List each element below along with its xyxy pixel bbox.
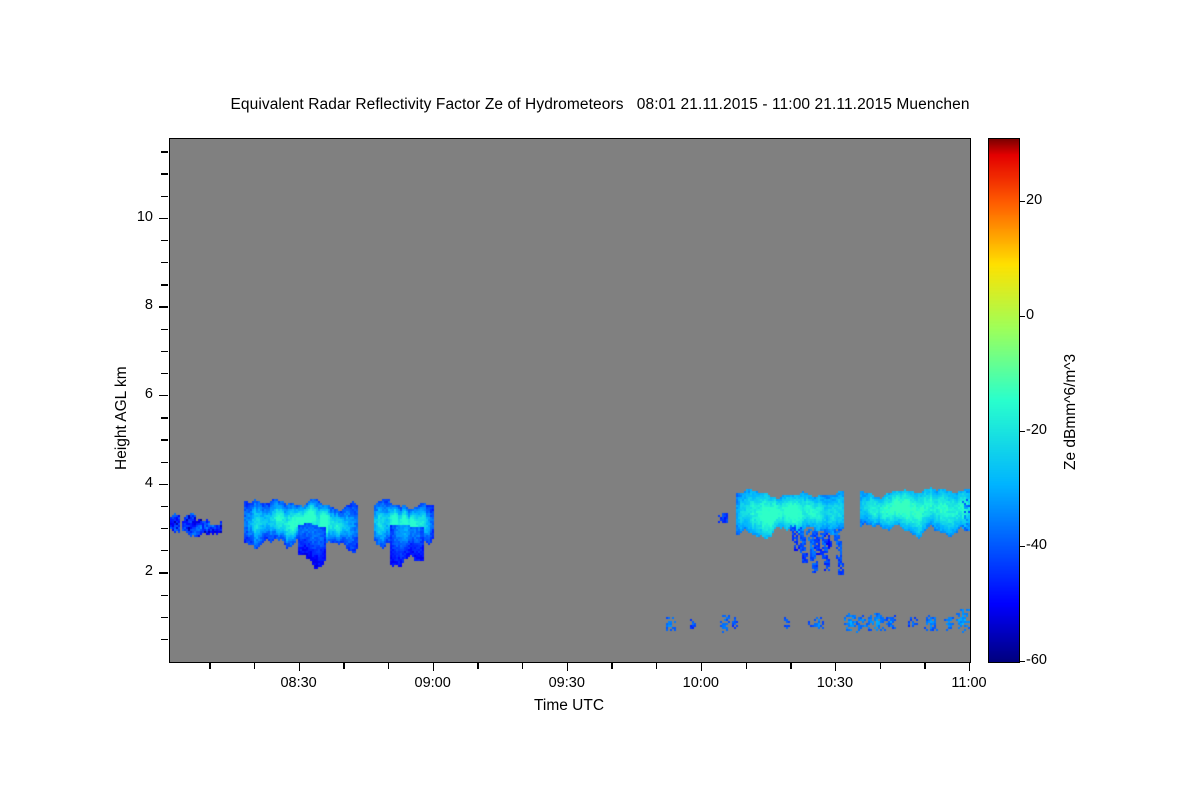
y-axis-title: Height AGL km — [113, 366, 131, 470]
reflectivity-heatmap[interactable] — [170, 139, 970, 662]
y-tick-label: 8 — [113, 297, 153, 313]
colorbar-tick — [1019, 201, 1025, 202]
x-tick — [701, 662, 702, 671]
x-tick — [790, 662, 791, 669]
x-tick — [388, 662, 389, 669]
x-tick — [343, 662, 344, 669]
x-tick — [433, 662, 434, 671]
y-tick — [161, 151, 168, 152]
x-tick-label: 09:00 — [393, 675, 473, 691]
x-tick — [924, 662, 925, 669]
y-tick — [161, 196, 168, 197]
y-tick — [161, 262, 168, 263]
colorbar-gradient — [989, 139, 1019, 662]
x-tick-label: 09:30 — [527, 675, 607, 691]
chart-title: Equivalent Radar Reflectivity Factor Ze … — [0, 96, 1200, 114]
y-tick — [159, 484, 168, 485]
y-tick — [159, 218, 168, 219]
x-tick — [880, 662, 881, 669]
y-tick — [159, 395, 168, 396]
y-tick — [161, 528, 168, 529]
x-tick — [746, 662, 747, 669]
colorbar-tick — [1019, 546, 1025, 547]
x-tick-label: 08:30 — [259, 675, 339, 691]
x-tick — [477, 662, 478, 669]
y-tick — [161, 329, 168, 330]
x-tick — [299, 662, 300, 671]
x-tick-label: 10:00 — [661, 675, 741, 691]
x-tick-label: 11:00 — [929, 675, 1009, 691]
x-tick — [209, 662, 210, 669]
colorbar-tick-label: 0 — [1026, 307, 1034, 323]
x-axis-title: Time UTC — [169, 697, 969, 715]
colorbar-tick-label: 20 — [1026, 192, 1042, 208]
y-tick — [161, 417, 168, 418]
x-tick — [567, 662, 568, 671]
y-tick — [161, 617, 168, 618]
y-tick — [161, 439, 168, 440]
y-tick — [161, 506, 168, 507]
x-tick — [522, 662, 523, 669]
y-tick — [161, 373, 168, 374]
y-tick — [161, 639, 168, 640]
colorbar-tick-label: -20 — [1026, 422, 1047, 438]
y-tick — [161, 351, 168, 352]
x-tick-label: 10:30 — [795, 675, 875, 691]
x-tick — [254, 662, 255, 669]
y-tick — [161, 550, 168, 551]
figure-canvas: Equivalent Radar Reflectivity Factor Ze … — [0, 0, 1200, 800]
plot-area[interactable] — [169, 138, 971, 663]
y-tick — [159, 572, 168, 573]
y-tick — [161, 173, 168, 174]
colorbar-tick-label: -40 — [1026, 537, 1047, 553]
x-tick — [656, 662, 657, 669]
y-tick — [161, 240, 168, 241]
colorbar-tick — [1019, 316, 1025, 317]
x-tick — [835, 662, 836, 671]
colorbar-tick — [1019, 431, 1025, 432]
y-tick — [161, 462, 168, 463]
x-tick — [969, 662, 970, 671]
colorbar-tick-label: -60 — [1026, 652, 1047, 668]
colorbar[interactable] — [988, 138, 1020, 663]
y-tick — [161, 284, 168, 285]
colorbar-title: Ze dBmm^6/m^3 — [1062, 354, 1080, 470]
y-tick — [159, 306, 168, 307]
y-tick-label: 4 — [113, 475, 153, 491]
y-tick-label: 2 — [113, 563, 153, 579]
y-tick — [161, 595, 168, 596]
colorbar-tick — [1019, 661, 1025, 662]
x-tick — [611, 662, 612, 669]
y-tick-label: 10 — [113, 209, 153, 225]
